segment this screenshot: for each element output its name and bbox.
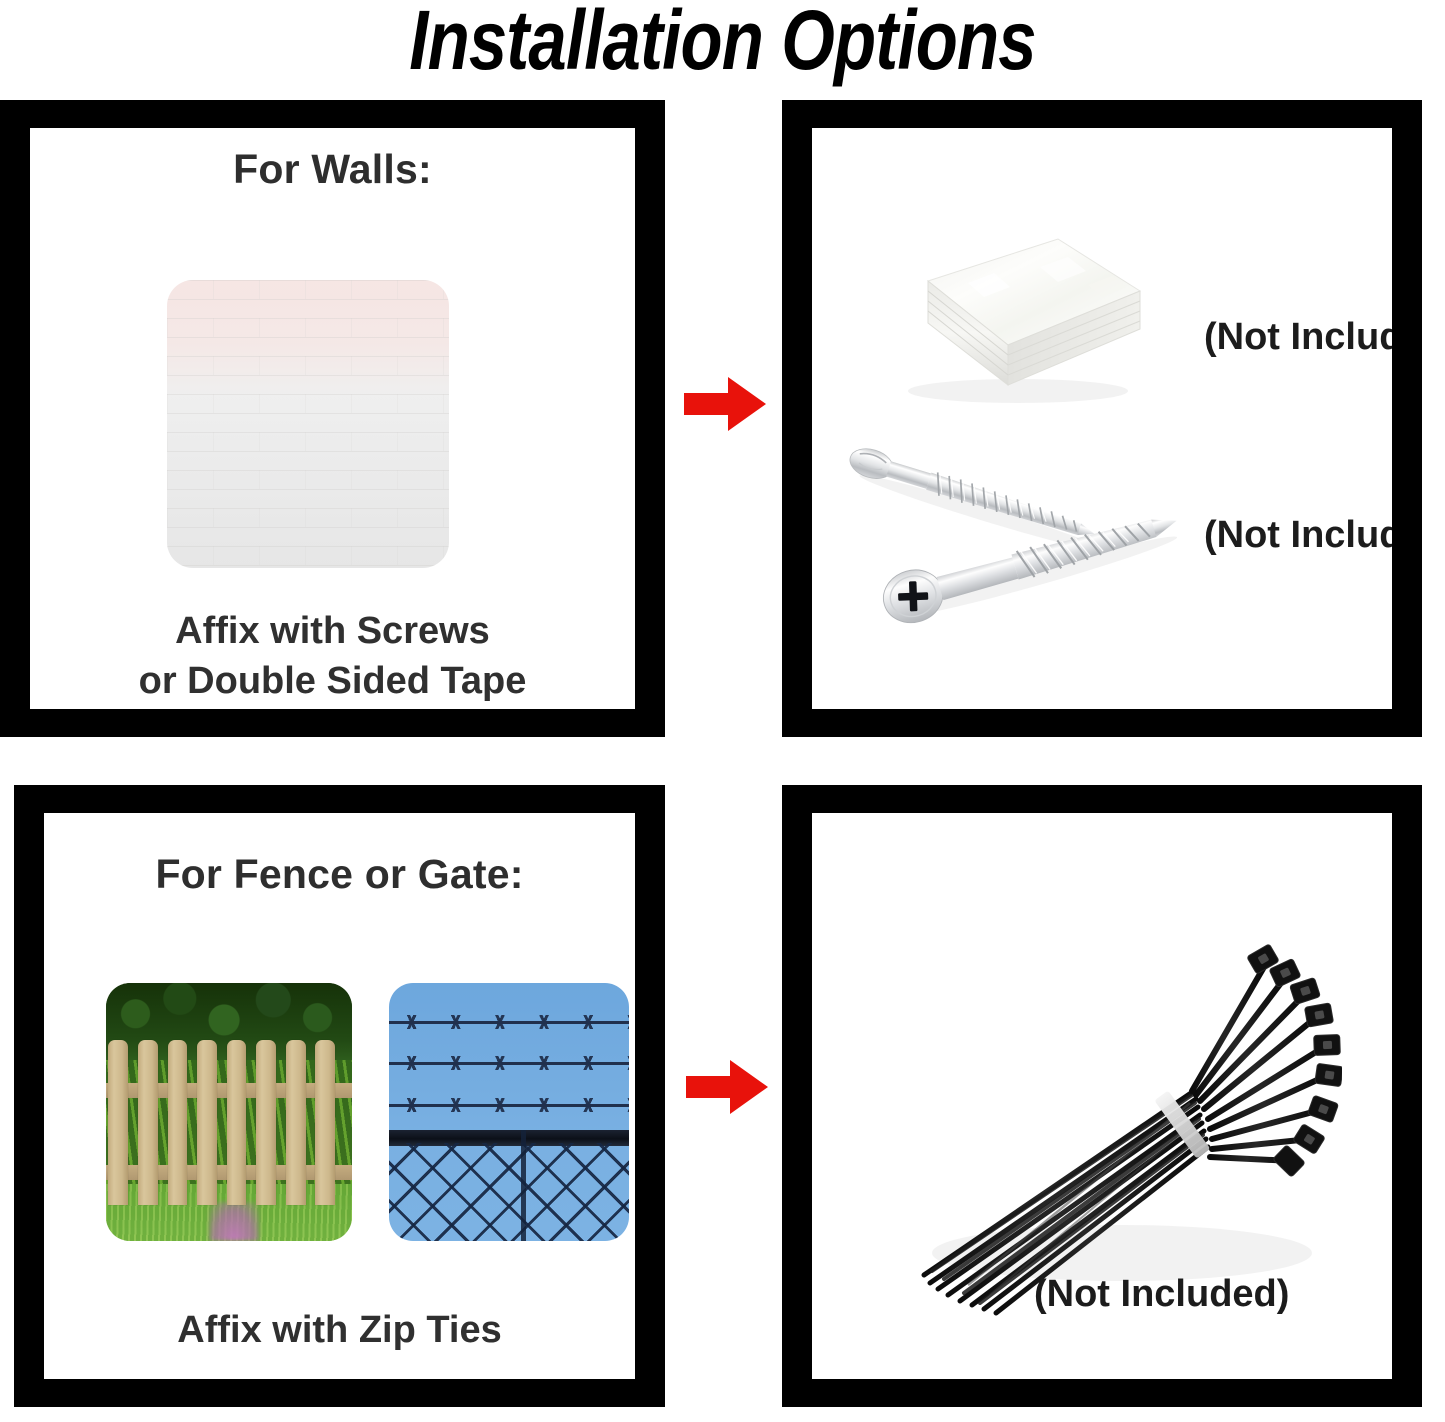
fence-picket	[108, 1040, 128, 1205]
white-brick-wall-photo	[167, 280, 449, 568]
page-title: Installation Options	[130, 0, 1315, 84]
for-walls-caption-line2: or Double Sided Tape	[30, 656, 635, 706]
fence-picket	[197, 1040, 217, 1205]
screws-not-included-label: (Not Included)	[1204, 514, 1392, 557]
fence-pickets	[106, 1040, 352, 1205]
wooden-picket-fence-photo	[106, 983, 352, 1241]
barbed-wire	[389, 1019, 629, 1025]
installation-options-infographic: Installation Options For Walls: Affix wi…	[0, 0, 1445, 1422]
fence-picket	[286, 1040, 306, 1205]
for-fence-caption: Affix with Zip Ties	[44, 1305, 635, 1355]
panel-wall-hardware-content: (Not Included)	[812, 128, 1392, 709]
panel-fence-hardware-content: (Not Included)	[812, 813, 1392, 1379]
ziptie-not-included-label: (Not Included)	[1034, 1273, 1289, 1316]
chain-link-barbed-wire-fence-photo	[389, 983, 629, 1241]
panel-wall-hardware: (Not Included)	[782, 100, 1422, 737]
panel-for-fence-content: For Fence or Gate:	[44, 813, 635, 1379]
fence-picket	[315, 1040, 335, 1205]
double-sided-tape-stack-photo	[890, 233, 1142, 409]
fence-picket	[168, 1040, 188, 1205]
chain-link-mesh	[389, 1143, 629, 1241]
panel-fence-hardware: (Not Included)	[782, 785, 1422, 1407]
arrow-right-icon	[686, 1058, 768, 1116]
panel-for-walls: For Walls: Affix with Screws or Double S…	[0, 100, 665, 737]
fence-post	[521, 1130, 526, 1241]
arrow-right-icon	[684, 375, 766, 433]
tape-not-included-label: (Not Included)	[1204, 316, 1392, 359]
barbed-wire	[389, 1060, 629, 1066]
wire-line	[389, 1021, 629, 1024]
for-walls-caption-line1: Affix with Screws	[30, 606, 635, 656]
for-walls-heading: For Walls:	[30, 146, 635, 193]
fence-path	[209, 1202, 259, 1241]
fence-picket	[227, 1040, 247, 1205]
black-zip-ties-bundle-photo	[872, 923, 1342, 1323]
fence-picket	[256, 1040, 276, 1205]
barbed-wire	[389, 1102, 629, 1108]
wire-line	[389, 1104, 629, 1107]
for-fence-heading: For Fence or Gate:	[44, 851, 635, 898]
wood-screws-photo	[842, 448, 1202, 628]
panel-for-fence-or-gate: For Fence or Gate:	[14, 785, 665, 1407]
fence-picket	[138, 1040, 158, 1205]
wire-line	[389, 1062, 629, 1065]
panel-for-walls-content: For Walls: Affix with Screws or Double S…	[30, 128, 635, 709]
